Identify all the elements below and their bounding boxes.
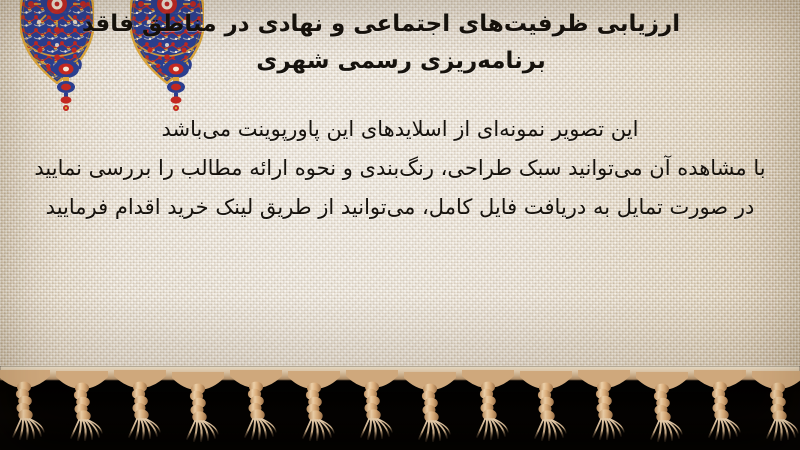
slide-body: این تصویر نمونه‌ای از اسلایدهای این پاور… — [10, 110, 790, 227]
slide-canvas: ارزیابی ظرفیت‌های اجتماعی و نهادی در منا… — [0, 0, 800, 450]
slide-body-line-1: این تصویر نمونه‌ای از اسلایدهای این پاور… — [10, 110, 790, 149]
carpet-fringe-tassels — [0, 366, 800, 450]
slide-title: ارزیابی ظرفیت‌های اجتماعی و نهادی در منا… — [20, 6, 782, 81]
slide-title-line-2: برنامه‌ریزی رسمی شهری — [20, 43, 782, 80]
slide-title-line-1: ارزیابی ظرفیت‌های اجتماعی و نهادی در منا… — [20, 6, 782, 43]
text-layer: ارزیابی ظرفیت‌های اجتماعی و نهادی در منا… — [0, 0, 800, 378]
slide-body-line-2: با مشاهده آن می‌توانید سبک طراحی، رنگ‌بن… — [10, 149, 790, 188]
slide-body-line-3: در صورت تمایل به دریافت فایل کامل، می‌تو… — [10, 188, 790, 227]
fringe-tassel-row — [0, 366, 800, 450]
